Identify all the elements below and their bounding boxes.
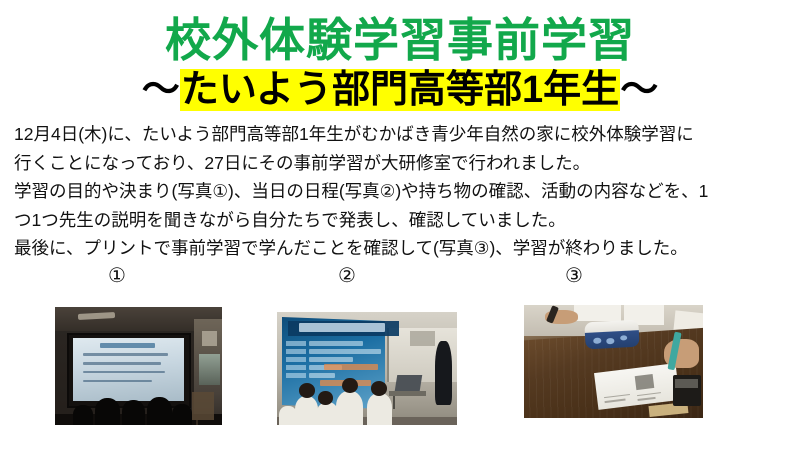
photo-1-content xyxy=(55,307,222,425)
body-line-1: 12月4日(木)に、たいよう部門高等部1年生がむかばき青少年自然の家に校外体験学… xyxy=(14,120,792,149)
subtitle-lead-tilde: 〜 xyxy=(142,69,180,111)
slide-canvas: 校外体験学習事前学習 〜たいよう部門高等部1年生〜 12月4日(木)に、たいよう… xyxy=(0,0,800,450)
page-subtitle: 〜たいよう部門高等部1年生〜 xyxy=(0,68,800,112)
body-line-3: 学習の目的や決まり(写真①)、当日の日程(写真②)や持ち物の確認、活動の内容など… xyxy=(14,177,792,206)
body-text-block: 12月4日(木)に、たいよう部門高等部1年生がむかばき青少年自然の家に校外体験学… xyxy=(14,120,792,263)
figure-label-1: ① xyxy=(108,266,126,286)
photo-2-content xyxy=(277,312,457,425)
figure-label-3: ③ xyxy=(565,266,583,286)
body-line-4: つ1つ先生の説明を聞きながら自分たちで発表し、確認していました。 xyxy=(14,206,792,235)
photo-3-content xyxy=(524,305,703,418)
photo-schedule-slide-lesson xyxy=(277,312,457,425)
figure-label-2: ② xyxy=(338,266,356,286)
page-title: 校外体験学習事前学習 xyxy=(0,14,800,66)
photo-worksheet-writing xyxy=(524,305,703,418)
body-line-2: 行くことになっており、27日にその事前学習が大研修室で行われました。 xyxy=(14,149,792,178)
photo-classroom-projection xyxy=(55,307,222,425)
subtitle-highlighted-text: たいよう部門高等部1年生 xyxy=(180,69,620,111)
body-line-5: 最後に、プリントで事前学習で学んだことを確認して(写真③)、学習が終わりました。 xyxy=(14,234,792,263)
title-area: 校外体験学習事前学習 〜たいよう部門高等部1年生〜 xyxy=(0,14,800,112)
subtitle-trail-tilde: 〜 xyxy=(620,69,658,111)
